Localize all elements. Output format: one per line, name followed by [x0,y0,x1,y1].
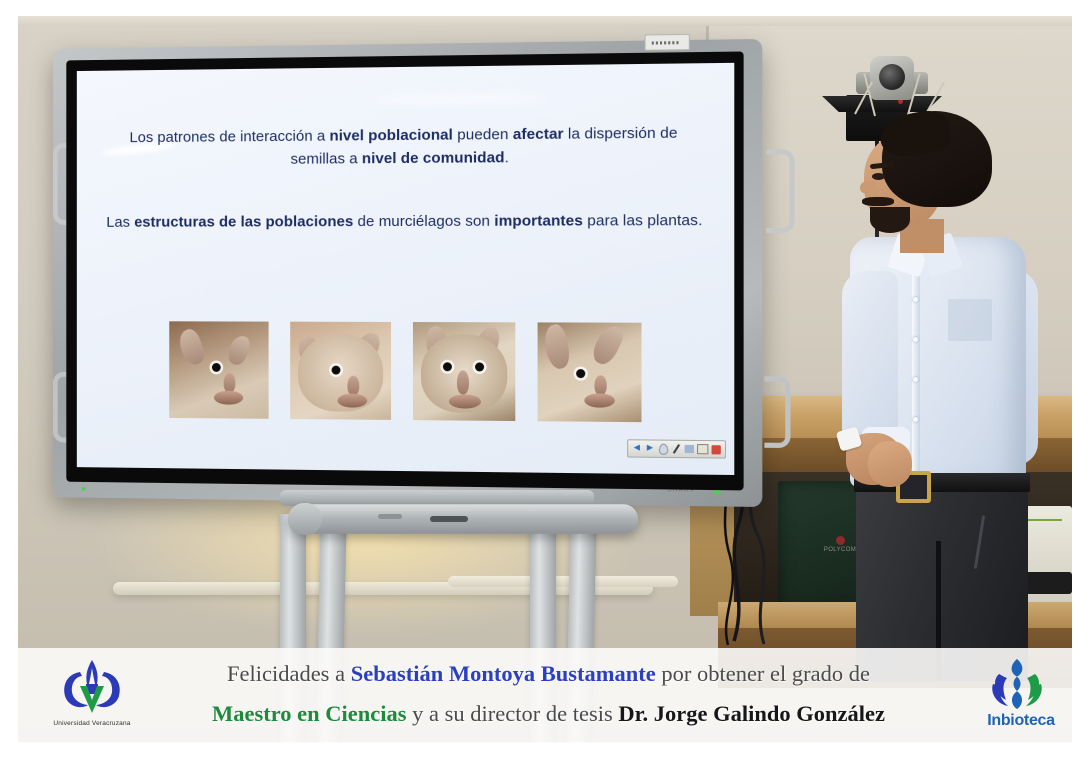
screen-glare-top [369,93,550,105]
pen-tray-slot [378,514,402,519]
shirt-button-4 [913,417,918,422]
slide-text-block: Los patrones de interacción a nivel pobl… [106,122,704,234]
presentation-screen[interactable]: Los patrones de interacción a nivel pobl… [77,63,734,475]
presenter-beard [870,207,910,233]
camera-lens [879,64,905,90]
caption-line-1: Felicidades a Sebastián Montoya Bustaman… [126,654,971,694]
secondary-led [82,487,86,491]
whiteboard-inner-frame: Los patrones de interacción a nivel pobl… [66,51,743,490]
whiteboard-handle-right-top[interactable] [766,149,794,233]
interactive-whiteboard[interactable]: SHARP Los patrones de interacción a nive… [30,44,770,564]
shirt-button-1 [913,297,918,302]
shirt-pocket [948,299,992,341]
slide-paragraph-2: Las estructuras de las poblaciones de mu… [106,209,704,234]
pen-icon[interactable] [671,443,682,455]
bezel-label-tag [645,34,690,51]
presenter-sleeve-left [842,271,898,449]
presenter-eye [872,173,885,180]
screen-icon[interactable] [684,443,695,455]
pen-tray-end-cap [288,503,322,535]
bat-photo-3 [413,322,515,421]
inbioteca-logo: Inbioteca [976,656,1058,740]
shirt-button-3 [913,377,918,382]
slide-paragraph-1: Los patrones de interacción a nivel pobl… [106,122,704,172]
caption-band: Universidad Veracruzana Felicidades a Se… [18,648,1072,743]
bat-photo-4 [538,322,642,422]
next-arrow-icon[interactable]: ► [644,442,655,454]
wall-ledge-secondary [448,576,678,587]
whiteboard-bezel: SHARP Los patrones de interacción a nive… [53,39,762,507]
close-icon[interactable] [711,443,722,455]
previous-arrow-icon[interactable]: ◄ [631,442,642,454]
caption-line-2: Maestro en Ciencias y a su director de t… [126,694,971,734]
photo-white-border: POLYCOM SHARP [0,0,1090,760]
caption-text: Felicidades a Sebastián Montoya Bustaman… [126,654,971,734]
whiteboard-handle-right-bottom[interactable] [764,376,790,448]
presenter-hand-right [868,441,912,487]
ceiling-strip [18,16,1072,26]
highlighter-icon[interactable] [658,443,669,455]
bat-photo-1 [169,321,268,419]
slide-annotation-toolbar[interactable]: ◄ ► [627,439,726,458]
presenter-moustache [862,197,894,206]
presenter-nose [860,181,876,194]
note-icon[interactable] [697,443,708,455]
shirt-placket [912,261,920,479]
bat-photo-2 [290,322,391,420]
stylus-pen[interactable] [430,516,468,522]
presenter [808,111,1048,671]
presentation-photo: POLYCOM SHARP [18,16,1072,743]
inbioteca-logo-text: Inbioteca [976,712,1066,730]
inbioteca-logo-mark [976,656,1058,712]
shirt-button-2 [913,337,918,342]
bat-photo-row [104,321,712,430]
